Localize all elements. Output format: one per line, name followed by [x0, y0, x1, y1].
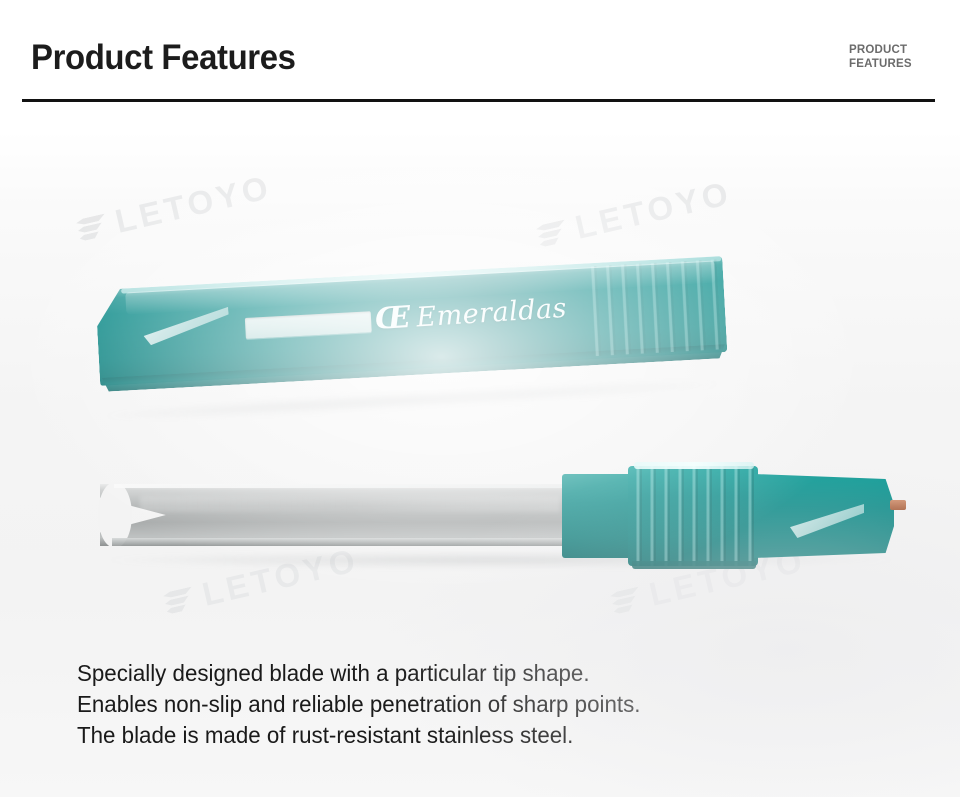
- product-features-page: Product Features PRODUCT FEATURES LETOYO…: [0, 0, 960, 797]
- caption-line-3: The blade is made of rust-resistant stai…: [77, 720, 837, 751]
- watermark-letoyo-top-left: LETOYO: [74, 168, 276, 250]
- handle-grip-top-highlight: [634, 462, 754, 469]
- letoyo-logo-icon: [535, 217, 571, 251]
- blade-cutting-edge: [112, 538, 570, 546]
- sheath-ribbed-grip: [582, 259, 727, 356]
- blade-sheath: ŒEmeraldas: [95, 256, 728, 398]
- handle-end-pin: [890, 500, 906, 510]
- handle-collar: [562, 474, 634, 558]
- letoyo-logo-icon: [162, 584, 198, 618]
- handle-ribbed-grip: [628, 466, 758, 566]
- caption-line-1: Specially designed blade with a particul…: [77, 658, 837, 689]
- blade-sheen: [140, 496, 560, 512]
- steel-blade: [100, 484, 570, 546]
- handle-grip-bottom-edge: [632, 561, 756, 569]
- page-title: Product Features: [31, 38, 296, 78]
- letoyo-logo-icon: [75, 211, 111, 245]
- blade-knife: [100, 460, 900, 572]
- header-divider: [22, 99, 935, 102]
- product-photo: LETOYO LETOYO LETOYO LETOYO ŒEmeraldas: [0, 130, 960, 797]
- caption-line-2: Enables non-slip and reliable penetratio…: [77, 689, 837, 720]
- section-badge-line-1: PRODUCT: [849, 44, 935, 58]
- section-badge: PRODUCT FEATURES: [849, 44, 935, 71]
- watermark-letoyo-top-right: LETOYO: [534, 174, 736, 256]
- letoyo-logo-icon: [609, 584, 645, 618]
- section-badge-line-2: FEATURES: [849, 58, 935, 72]
- page-header: Product Features PRODUCT FEATURES: [0, 0, 960, 130]
- handle-tail: [754, 474, 894, 558]
- brand-monogram: Œ: [374, 300, 411, 337]
- watermark-text: LETOYO: [112, 168, 276, 241]
- blade-spine-highlight: [114, 484, 570, 488]
- watermark-text: LETOYO: [572, 174, 736, 247]
- feature-caption: Specially designed blade with a particul…: [77, 658, 837, 751]
